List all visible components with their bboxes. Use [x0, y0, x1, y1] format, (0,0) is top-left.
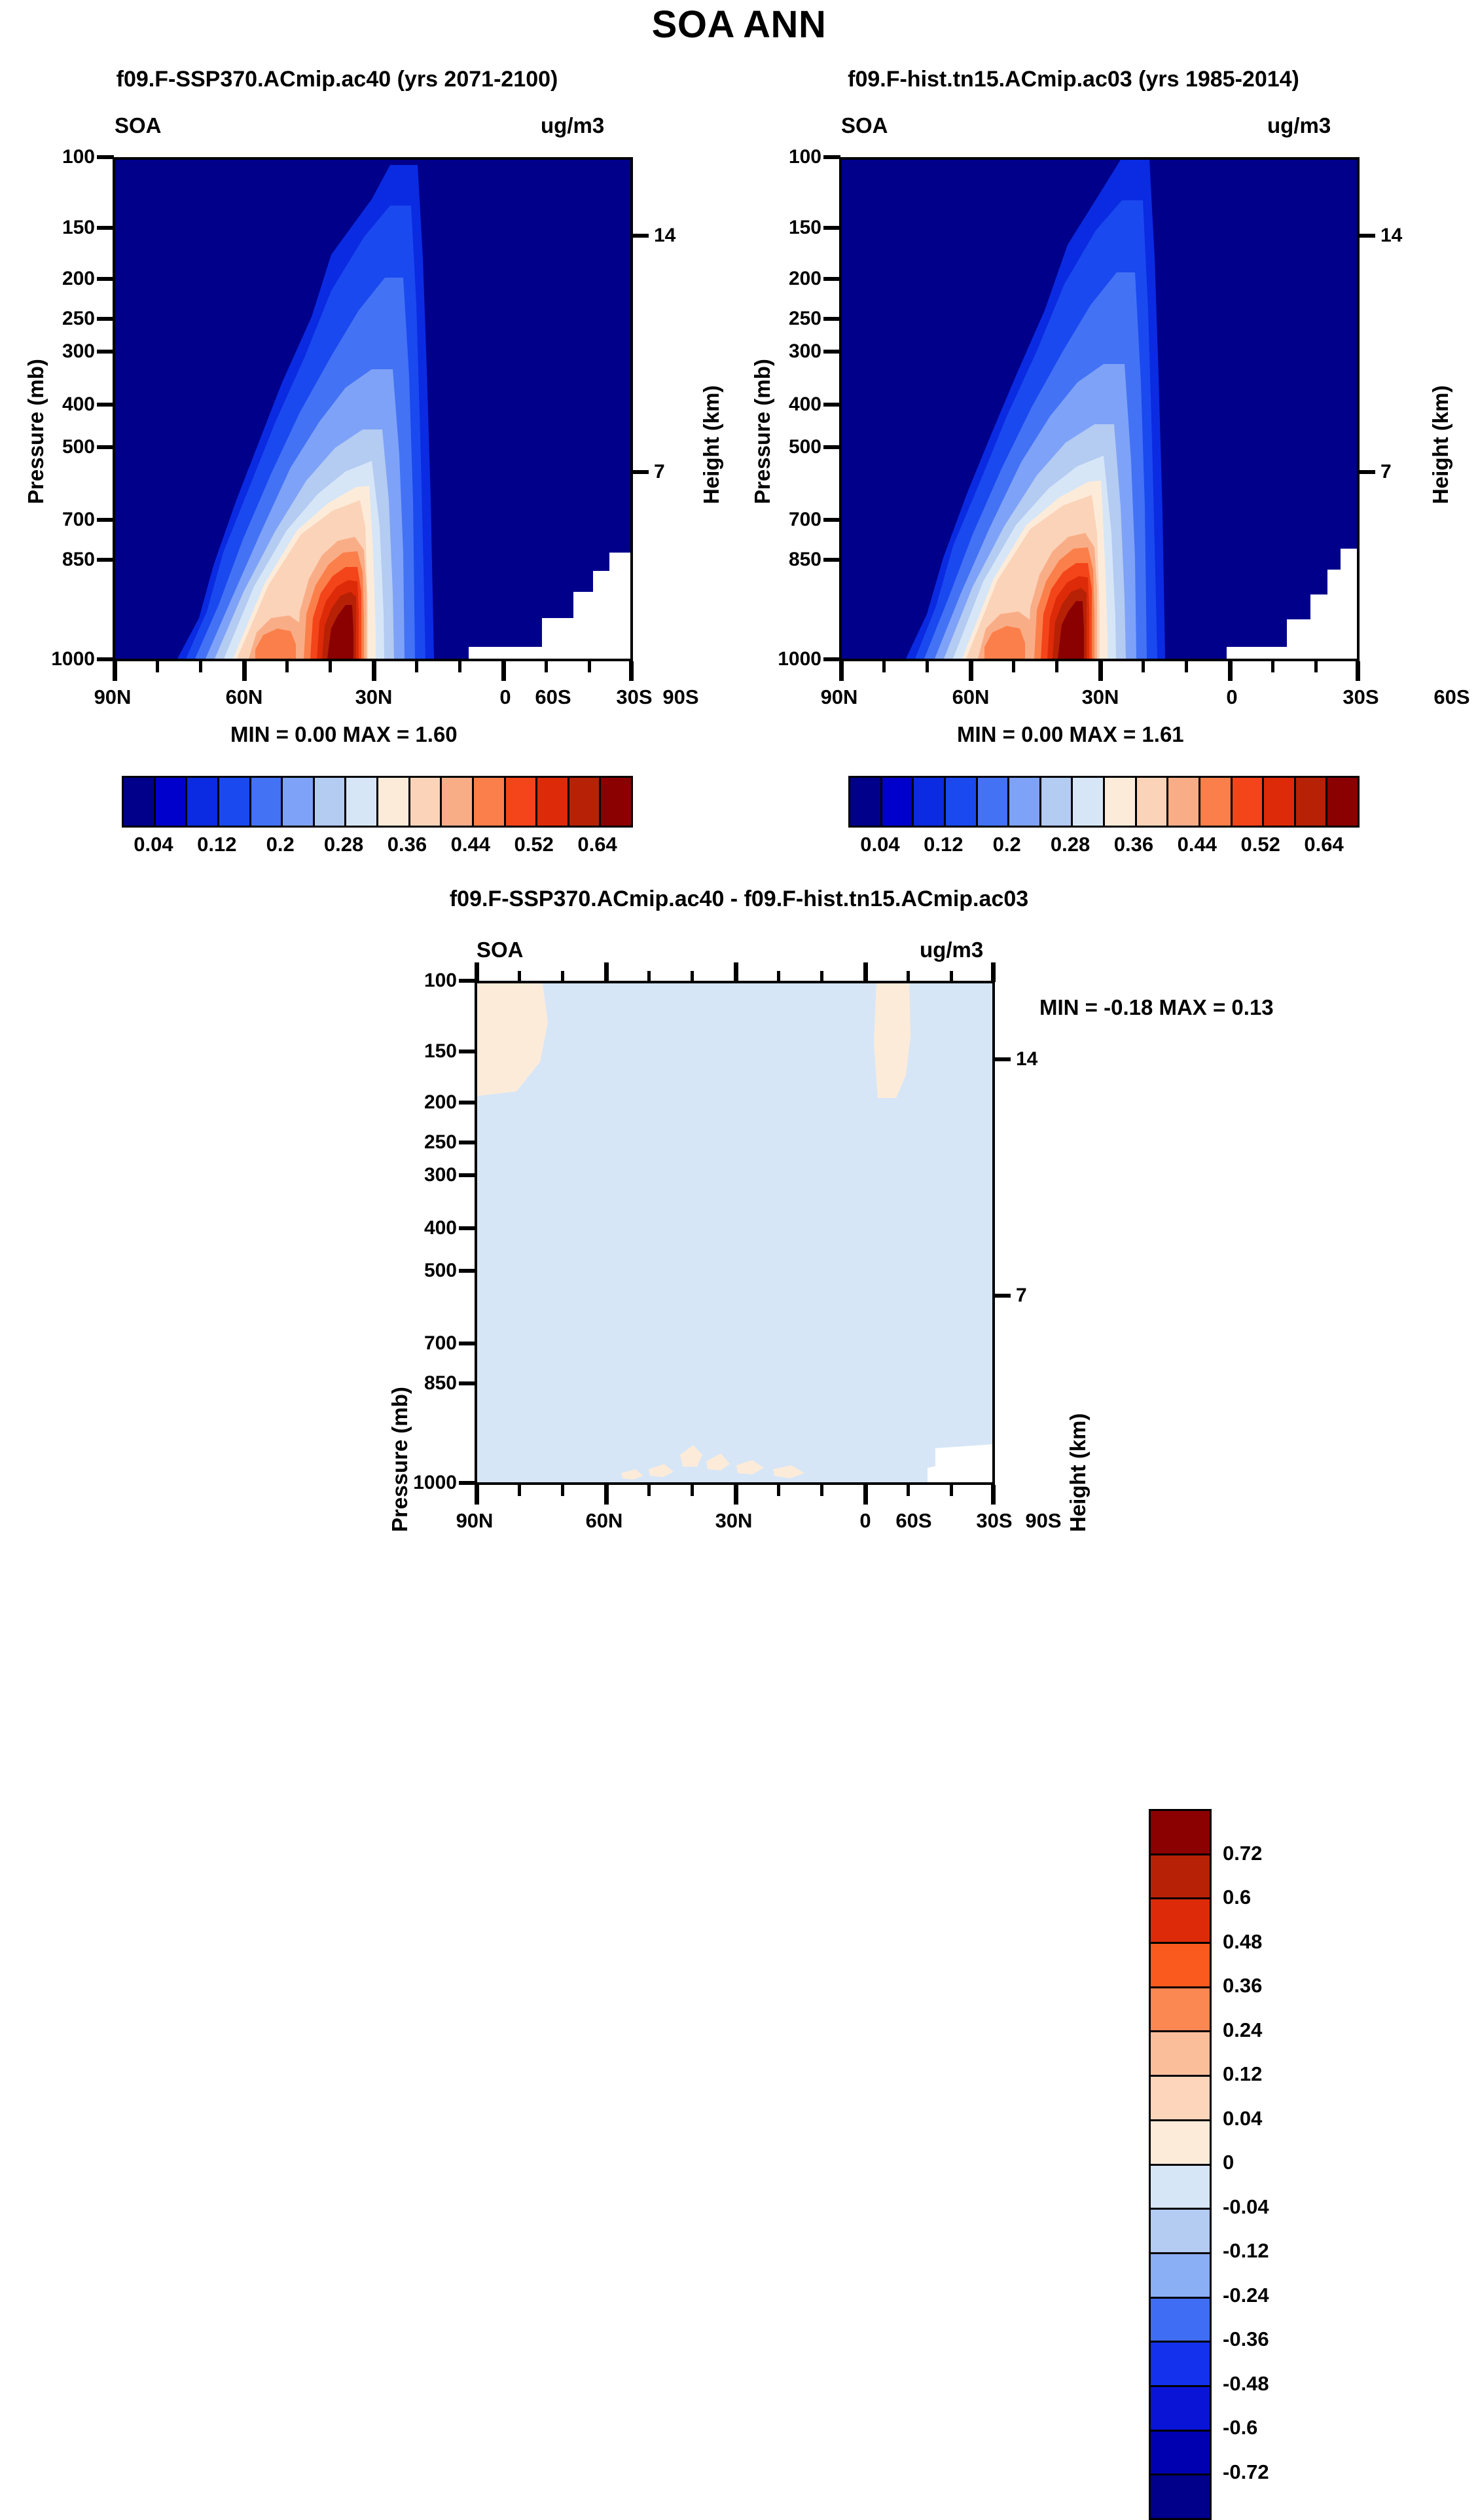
- xtickmark-top-major: [991, 962, 996, 982]
- colorbar-tick-label: 0.44: [451, 833, 490, 856]
- colorbar-tick-label: 0.48: [1223, 1930, 1262, 1954]
- xtick-60N: 60N: [931, 685, 1010, 709]
- y2tick-7: 7: [1380, 461, 1392, 483]
- colorbar-swatch[interactable]: [346, 778, 378, 826]
- xtickmark-major: [839, 661, 844, 681]
- panel-top-left-plot: [113, 157, 633, 661]
- ytick-100: 100: [753, 146, 821, 168]
- xtick-30N: 30N: [1061, 685, 1140, 709]
- colorbar-tick-label: 0.36: [388, 833, 427, 856]
- xtickmark-top-minor: [561, 971, 564, 982]
- panel-top-left-contours: [115, 160, 630, 659]
- colorbar-swatch[interactable]: [850, 778, 882, 826]
- colorbar-swatch[interactable]: [1151, 1899, 1210, 1944]
- colorbar-horizontal-right[interactable]: [848, 776, 1360, 828]
- colorbar-swatch[interactable]: [156, 778, 188, 826]
- colorbar-tick-label: -0.36: [1223, 2328, 1269, 2351]
- colorbar-tick-label: 0.04: [134, 833, 173, 856]
- panel-difference-plot: [475, 981, 995, 1485]
- panel-difference: f09.F-SSP370.ACmip.ac40 - f09.F-hist.tn1…: [0, 871, 1478, 1561]
- ytick-500: 500: [26, 436, 95, 458]
- colorbar-swatch[interactable]: [315, 778, 347, 826]
- ytick-1000: 1000: [740, 648, 821, 670]
- colorbar-swatch[interactable]: [1151, 2166, 1210, 2210]
- ytick-400: 400: [26, 393, 95, 416]
- colorbar-tick-label: -0.12: [1223, 2239, 1269, 2263]
- colorbar-tick-label: 0.6: [1223, 1886, 1251, 1909]
- ytickmark: [823, 277, 840, 281]
- ytick-1000: 1000: [13, 648, 95, 670]
- ytick-1000: 1000: [377, 1472, 457, 1494]
- xtickmark-minor: [545, 661, 548, 672]
- ytick-700: 700: [753, 509, 821, 531]
- y2tickmark: [632, 470, 649, 474]
- colorbar-tick-label: 0.28: [324, 833, 363, 856]
- ytickmark: [459, 1269, 476, 1273]
- xtickmark-major: [863, 1485, 868, 1505]
- colorbar-tick-label: 0.24: [1223, 2018, 1262, 2042]
- ytickmark: [823, 558, 840, 562]
- panel-top-left-y2label: Height (km): [699, 386, 724, 505]
- xtickmark-minor: [1055, 661, 1058, 672]
- colorbar-swatch[interactable]: [410, 778, 442, 826]
- ytick-100: 100: [26, 146, 95, 168]
- xtickmark-minor: [1314, 661, 1318, 672]
- ytickmark: [97, 317, 114, 321]
- ytick-250: 250: [390, 1131, 457, 1154]
- xtickmark-minor: [518, 1485, 521, 1496]
- xtickmark-major: [242, 661, 247, 681]
- xtickmark-top-minor: [691, 971, 694, 982]
- panel-difference-corner-left: SOA: [477, 938, 524, 962]
- xtickmark-minor: [458, 661, 461, 672]
- colorbar-swatch[interactable]: [1168, 778, 1200, 826]
- colorbar-swatch[interactable]: [283, 778, 315, 826]
- ytickmark: [459, 1481, 476, 1485]
- colorbar-swatch[interactable]: [1009, 778, 1041, 826]
- xtickmark-top-minor: [820, 971, 823, 982]
- panel-top-left-title: f09.F-SSP370.ACmip.ac40 (yrs 2071-2100): [0, 67, 674, 92]
- colorbar-vertical[interactable]: [1149, 1809, 1212, 2520]
- colorbar-swatch[interactable]: [1151, 2077, 1210, 2121]
- xtick-60S: 60S: [874, 1509, 953, 1533]
- xtickmark-major: [734, 1485, 738, 1505]
- xtickmark-minor: [156, 661, 159, 672]
- panel-top-right: f09.F-hist.tn15.ACmip.ac03 (yrs 1985-201…: [727, 0, 1478, 871]
- colorbar-tick-label: 0.12: [924, 833, 963, 856]
- colorbar-tick-label: 0.64: [1304, 833, 1343, 856]
- xtickmark-major: [372, 661, 376, 681]
- colorbar-swatch[interactable]: [1233, 778, 1265, 826]
- xtickmark-minor: [950, 1485, 953, 1496]
- panel-top-right-y2label: Height (km): [1428, 386, 1453, 505]
- xtickmark-top-minor: [647, 971, 651, 982]
- y2tickmark: [1358, 234, 1375, 238]
- xtickmark-minor: [882, 661, 886, 672]
- ytick-850: 850: [26, 549, 95, 571]
- y2tickmark: [994, 1057, 1011, 1061]
- xtickmark-minor: [777, 1485, 780, 1496]
- xtickmark-major: [969, 661, 973, 681]
- colorbar-swatch[interactable]: [219, 778, 251, 826]
- colorbar-swatch[interactable]: [914, 778, 946, 826]
- colorbar-tick-label: 0.36: [1223, 1974, 1262, 1998]
- ytick-850: 850: [753, 549, 821, 571]
- xtickmark-minor: [329, 661, 332, 672]
- colorbar-swatch[interactable]: [569, 778, 602, 826]
- colorbar-swatch[interactable]: [378, 778, 410, 826]
- colorbar-tick-label: 0.52: [514, 833, 554, 856]
- xtickmark-minor: [1185, 661, 1188, 672]
- ytick-200: 200: [26, 268, 95, 290]
- ytick-150: 150: [753, 217, 821, 239]
- panel-top-right-title: f09.F-hist.tn15.ACmip.ac03 (yrs 1985-201…: [727, 67, 1420, 92]
- colorbar-horizontal-left[interactable]: [122, 776, 633, 828]
- colorbar-swatch[interactable]: [946, 778, 978, 826]
- panel-difference-minmax: MIN = -0.18 MAX = 0.13: [1039, 995, 1274, 1020]
- ytick-850: 850: [390, 1372, 457, 1395]
- xtickmark-minor: [415, 661, 418, 672]
- y2tickmark: [994, 1294, 1011, 1298]
- ytick-300: 300: [26, 340, 95, 363]
- ytickmark: [459, 1226, 476, 1230]
- ytick-500: 500: [753, 436, 821, 458]
- colorbar-tick-label: -0.6: [1223, 2416, 1257, 2439]
- colorbar-swatch[interactable]: [1151, 2254, 1210, 2299]
- colorbar-tick-label: 0.44: [1178, 833, 1217, 856]
- ytick-300: 300: [390, 1164, 457, 1186]
- colorbar-swatch[interactable]: [1151, 2032, 1210, 2077]
- xtickmark-minor: [285, 661, 289, 672]
- colorbar-tick-label: 0.2: [993, 833, 1021, 856]
- xtickmark-minor: [1271, 661, 1274, 672]
- xtickmark-major: [475, 1485, 479, 1505]
- ytick-150: 150: [390, 1040, 457, 1063]
- colorbar-swatch[interactable]: [124, 778, 156, 826]
- colorbar-tick-label: 0.72: [1223, 1842, 1262, 1865]
- colorbar-tick-label: 0.52: [1241, 833, 1280, 856]
- colorbar-swatch[interactable]: [1151, 1988, 1210, 2033]
- xtickmark-top-minor: [777, 971, 780, 982]
- y2tick-14: 14: [1016, 1048, 1037, 1070]
- colorbar-swatch[interactable]: [1151, 2299, 1210, 2343]
- panel-difference-ylabel: Pressure (mb): [388, 1387, 412, 1532]
- panel-difference-title: f09.F-SSP370.ACmip.ac40 - f09.F-hist.tn1…: [0, 886, 1478, 912]
- xtick-60N: 60N: [565, 1509, 643, 1533]
- xtickmark-minor: [1142, 661, 1145, 672]
- ytickmark: [823, 657, 840, 661]
- colorbar-swatch[interactable]: [506, 778, 538, 826]
- ytick-400: 400: [753, 393, 821, 416]
- panel-top-right-corner-left: SOA: [841, 113, 888, 138]
- xtickmark-major: [1228, 661, 1233, 681]
- colorbar-tick-label: 0.12: [1223, 2062, 1262, 2086]
- ytick-500: 500: [390, 1260, 457, 1282]
- colorbar-swatch[interactable]: [1151, 2475, 1210, 2518]
- ytick-250: 250: [753, 308, 821, 330]
- colorbar-swatch[interactable]: [1151, 2387, 1210, 2432]
- xtick-60N: 60N: [205, 685, 283, 709]
- xtick-90N: 90N: [800, 685, 878, 709]
- xtickmark-minor: [691, 1485, 694, 1496]
- panel-top-right-plot: [839, 157, 1360, 661]
- ytick-200: 200: [390, 1091, 457, 1114]
- ytick-250: 250: [26, 308, 95, 330]
- xtick-30N: 30N: [334, 685, 413, 709]
- ytickmark: [97, 558, 114, 562]
- ytickmark: [823, 403, 840, 407]
- ytickmark: [97, 277, 114, 281]
- colorbar-swatch[interactable]: [1200, 778, 1233, 826]
- xtickmark-top-major: [604, 962, 609, 982]
- colorbar-tick-label: 0.04: [860, 833, 899, 856]
- ytickmark: [459, 1173, 476, 1177]
- xtick-60S: 60S: [1413, 685, 1478, 709]
- panel-top-right-contours: [842, 160, 1357, 659]
- colorbar-swatch[interactable]: [1151, 2343, 1210, 2387]
- ytickmark: [823, 155, 840, 159]
- ytick-300: 300: [753, 340, 821, 363]
- xtickmark-minor: [926, 661, 929, 672]
- colorbar-swatch[interactable]: [1151, 2210, 1210, 2254]
- colorbar-tick-label: -0.48: [1223, 2372, 1269, 2396]
- ytick-150: 150: [26, 217, 95, 239]
- ytick-200: 200: [753, 268, 821, 290]
- ytickmark: [823, 317, 840, 321]
- panel-top-left-corner-right: ug/m3: [541, 113, 604, 138]
- xtick-30N: 30N: [694, 1509, 773, 1533]
- colorbar-swatch[interactable]: [442, 778, 474, 826]
- colorbar-swatch[interactable]: [537, 778, 569, 826]
- ytickmark: [97, 445, 114, 449]
- colorbar-swatch[interactable]: [1105, 778, 1137, 826]
- ytick-700: 700: [26, 509, 95, 531]
- xtickmark-major: [604, 1485, 609, 1505]
- colorbar-swatch[interactable]: [187, 778, 219, 826]
- xtickmark-top-minor: [950, 971, 953, 982]
- colorbar-swatch[interactable]: [1296, 778, 1328, 826]
- colorbar-horizontal-left-labels: 0.040.120.20.280.360.440.520.64: [122, 833, 629, 859]
- colorbar-tick-label: -0.72: [1223, 2460, 1269, 2484]
- panel-difference-corner-right: ug/m3: [920, 938, 983, 962]
- xtickmark-minor: [561, 1485, 564, 1496]
- colorbar-tick-label: 0.64: [577, 833, 617, 856]
- colorbar-tick-label: 0.36: [1114, 833, 1153, 856]
- xtickmark-minor: [820, 1485, 823, 1496]
- xtick-30S: 30S: [1322, 685, 1400, 709]
- y2tick-7: 7: [1016, 1285, 1027, 1307]
- colorbar-swatch[interactable]: [978, 778, 1010, 826]
- y2tickmark: [632, 234, 649, 238]
- colorbar-tick-label: 0.04: [1223, 2107, 1262, 2130]
- xtickmark-major: [1098, 661, 1103, 681]
- ytick-700: 700: [390, 1332, 457, 1355]
- colorbar-swatch[interactable]: [1151, 1944, 1210, 1988]
- ytickmark: [459, 1141, 476, 1144]
- xtickmark-top-major: [863, 962, 868, 982]
- colorbar-tick-label: 0.2: [266, 833, 295, 856]
- xtickmark-major: [113, 661, 117, 681]
- ytickmark: [823, 226, 840, 230]
- panel-difference-contours: [477, 983, 992, 1482]
- xtick-90N: 90N: [73, 685, 152, 709]
- xtickmark-major: [629, 661, 634, 681]
- colorbar-horizontal-right-labels: 0.040.120.20.280.360.440.520.64: [848, 833, 1356, 859]
- xtickmark-top-major: [734, 962, 738, 982]
- colorbar-tick-label: 0.12: [197, 833, 236, 856]
- xtick-90S: 90S: [1004, 1509, 1083, 1533]
- xtickmark-top-minor: [518, 971, 521, 982]
- xtick-0: 0: [1193, 685, 1271, 709]
- ytickmark: [97, 518, 114, 522]
- panel-top-left-corner-left: SOA: [115, 113, 162, 138]
- xtickmark-top-minor: [907, 971, 910, 982]
- panel-top-right-corner-right: ug/m3: [1267, 113, 1331, 138]
- colorbar-swatch[interactable]: [1137, 778, 1169, 826]
- ytickmark: [97, 350, 114, 354]
- ytickmark: [97, 403, 114, 407]
- xtick-90N: 90N: [435, 1509, 514, 1533]
- colorbar-swatch[interactable]: [601, 778, 631, 826]
- colorbar-tick-label: 0.28: [1051, 833, 1090, 856]
- xtickmark-major: [1356, 661, 1360, 681]
- colorbar-swatch[interactable]: [474, 778, 506, 826]
- panel-top-left: f09.F-SSP370.ACmip.ac40 (yrs 2071-2100) …: [0, 0, 720, 871]
- ytick-100: 100: [390, 970, 457, 992]
- ytickmark: [459, 1050, 476, 1053]
- ytickmark: [459, 1342, 476, 1345]
- xtickmark-minor: [1012, 661, 1015, 672]
- xtickmark-minor: [647, 1485, 651, 1496]
- colorbar-swatch[interactable]: [1327, 778, 1358, 826]
- y2tickmark: [1358, 470, 1375, 474]
- xtick-60S: 60S: [514, 685, 592, 709]
- y2tick-14: 14: [654, 225, 676, 247]
- colorbar-swatch[interactable]: [1151, 1855, 1210, 1900]
- ytickmark: [459, 979, 476, 983]
- ytickmark: [459, 1101, 476, 1105]
- xtickmark-minor: [588, 661, 591, 672]
- ytickmark: [823, 518, 840, 522]
- colorbar-swatch[interactable]: [1151, 2121, 1210, 2166]
- ytickmark: [97, 226, 114, 230]
- colorbar-swatch[interactable]: [251, 778, 283, 826]
- xtickmark-major: [501, 661, 506, 681]
- ytickmark: [97, 657, 114, 661]
- colorbar-tick-label: -0.04: [1223, 2195, 1269, 2219]
- ytickmark: [459, 1381, 476, 1385]
- colorbar-tick-label: 0: [1223, 2151, 1234, 2174]
- ytickmark: [823, 445, 840, 449]
- y2tick-14: 14: [1380, 225, 1402, 247]
- panel-top-right-ylabel: Pressure (mb): [750, 359, 775, 504]
- colorbar-swatch[interactable]: [1151, 2432, 1210, 2476]
- colorbar-swatch[interactable]: [882, 778, 914, 826]
- colorbar-swatch[interactable]: [1073, 778, 1105, 826]
- panel-top-right-minmax: MIN = 0.00 MAX = 1.61: [957, 722, 1184, 747]
- panel-top-left-minmax: MIN = 0.00 MAX = 1.60: [230, 722, 458, 747]
- xtickmark-major: [991, 1485, 996, 1505]
- xtickmark-minor: [199, 661, 202, 672]
- xtickmark-minor: [907, 1485, 910, 1496]
- colorbar-swatch[interactable]: [1264, 778, 1296, 826]
- xtickmark-top-major: [475, 962, 479, 982]
- panel-top-left-ylabel: Pressure (mb): [24, 359, 48, 504]
- xtick-90S: 90S: [641, 685, 720, 709]
- colorbar-swatch[interactable]: [1041, 778, 1073, 826]
- ytickmark: [97, 155, 114, 159]
- y2tick-7: 7: [654, 461, 665, 483]
- ytick-400: 400: [390, 1217, 457, 1239]
- ytickmark: [823, 350, 840, 354]
- colorbar-tick-label: -0.24: [1223, 2284, 1269, 2307]
- colorbar-vertical-labels: 0.720.60.480.360.240.120.040-0.04-0.12-0…: [1223, 1809, 1354, 2516]
- colorbar-swatch[interactable]: [1151, 1811, 1210, 1855]
